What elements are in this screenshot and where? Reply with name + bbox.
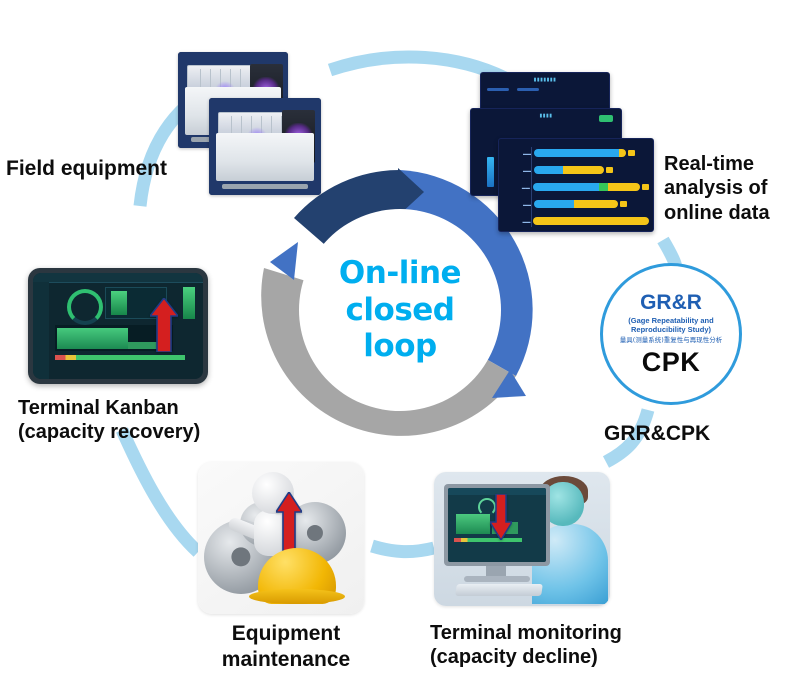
label-line-2: (capacity recovery) xyxy=(18,420,200,444)
dashboard-status-chip xyxy=(599,115,613,122)
kanban-gauge xyxy=(67,289,103,325)
cpk-title: CPK xyxy=(642,349,701,376)
gantt-row: ▬▬ xyxy=(505,164,649,176)
label-line-1: Equipment xyxy=(196,621,376,647)
label-line-1: Real-time xyxy=(664,152,770,176)
label-grr-cpk: GRR&CPK xyxy=(604,421,710,447)
label-line-1: Terminal monitoring xyxy=(430,621,622,645)
arc-monitoring-to-maintenance xyxy=(372,546,434,552)
gantt-bar xyxy=(534,149,626,157)
field-equipment-photo-front xyxy=(209,98,321,195)
gantt-bar xyxy=(534,166,604,174)
gantt-row-label: ▬▬ xyxy=(505,202,534,207)
node-terminal-kanban-image[interactable] xyxy=(28,268,208,384)
grr-title: GR&R xyxy=(640,292,702,313)
arc-maintenance-to-kanban xyxy=(122,430,198,552)
dashboard-title-text: ▮▮▮▮▮▮▮ xyxy=(481,77,609,83)
dashboard-legend xyxy=(487,88,539,91)
gantt-bar xyxy=(533,183,640,191)
gantt-marker xyxy=(606,167,613,173)
kanban-bar-1 xyxy=(111,291,127,315)
kanban-topbar xyxy=(33,273,203,283)
label-realtime-analysis: Real-time analysis of online data xyxy=(664,152,770,225)
gantt-bar xyxy=(534,200,618,208)
node-field-equipment-image[interactable] xyxy=(178,52,321,195)
keyboard xyxy=(455,584,543,596)
label-terminal-kanban: Terminal Kanban (capacity recovery) xyxy=(18,396,200,445)
gantt-row: ▬▬ xyxy=(505,198,649,210)
gantt-row-label: ▬▬ xyxy=(505,151,534,156)
kanban-bar-2 xyxy=(183,287,195,319)
machine-body xyxy=(216,133,315,182)
node-realtime-dashboards-image[interactable]: ▮▮▮▮▮▮▮ ▮▮▮▮ ▬▬ xyxy=(470,72,652,230)
gantt-row: ▬▬ xyxy=(505,147,649,159)
dashboard-gantt-rows: ▬▬ ▬▬ ▬▬ ▬▬ xyxy=(505,147,649,227)
diagram-canvas: On-line closed loop xyxy=(0,0,800,684)
node-grr-cpk-badge[interactable]: GR&R (Gage Repeatability and Reproducibi… xyxy=(600,263,742,405)
monitor-base xyxy=(464,576,530,582)
grr-chinese-text: 量具(测量系统)重复性与再现性分析 xyxy=(620,337,723,345)
node-equipment-maintenance-image[interactable] xyxy=(198,462,364,614)
ring-center-text: On-line closed loop xyxy=(307,255,493,365)
gantt-row-label: ▬▬ xyxy=(505,219,533,224)
kanban-sidebar xyxy=(33,282,49,379)
ring-title-line-1: On-line xyxy=(307,255,493,292)
production-line-illustration xyxy=(209,98,321,195)
gantt-marker xyxy=(628,150,635,156)
label-field-equipment: Field equipment xyxy=(6,156,167,182)
up-arrow-icon xyxy=(150,298,178,352)
node-terminal-monitoring-image[interactable] xyxy=(434,472,610,606)
gantt-marker xyxy=(620,201,627,207)
label-line-3: online data xyxy=(664,201,770,225)
label-line-2: (capacity decline) xyxy=(430,645,622,669)
kanban-status-strip xyxy=(55,355,185,360)
machine-base xyxy=(222,184,307,189)
gantt-row-label: ▬▬ xyxy=(505,168,534,173)
label-line-1: Terminal Kanban xyxy=(18,396,200,420)
label-terminal-monitoring: Terminal monitoring (capacity decline) xyxy=(430,621,622,670)
dashboard-panel-gantt: ▬▬ ▬▬ ▬▬ ▬▬ xyxy=(498,138,654,232)
label-line-2: analysis of xyxy=(664,176,770,200)
gantt-row: ▬▬ xyxy=(505,181,649,193)
tablet-bezel xyxy=(28,268,208,384)
grr-subtitle-line-2: Reproducibility Study) xyxy=(631,325,711,334)
gantt-marker xyxy=(642,184,649,190)
gantt-bar xyxy=(533,217,649,225)
down-arrow-icon xyxy=(490,494,512,540)
monitor-chart-1 xyxy=(456,514,490,534)
gantt-row: ▬▬ xyxy=(505,215,649,227)
ring-title-line-2: closed loop xyxy=(307,292,493,365)
label-line-2: maintenance xyxy=(196,647,376,673)
label-equipment-maintenance: Equipment maintenance xyxy=(196,621,376,672)
grr-subtitle-line-1: (Gage Repeatability and xyxy=(628,316,713,325)
gantt-row-label: ▬▬ xyxy=(505,185,533,190)
